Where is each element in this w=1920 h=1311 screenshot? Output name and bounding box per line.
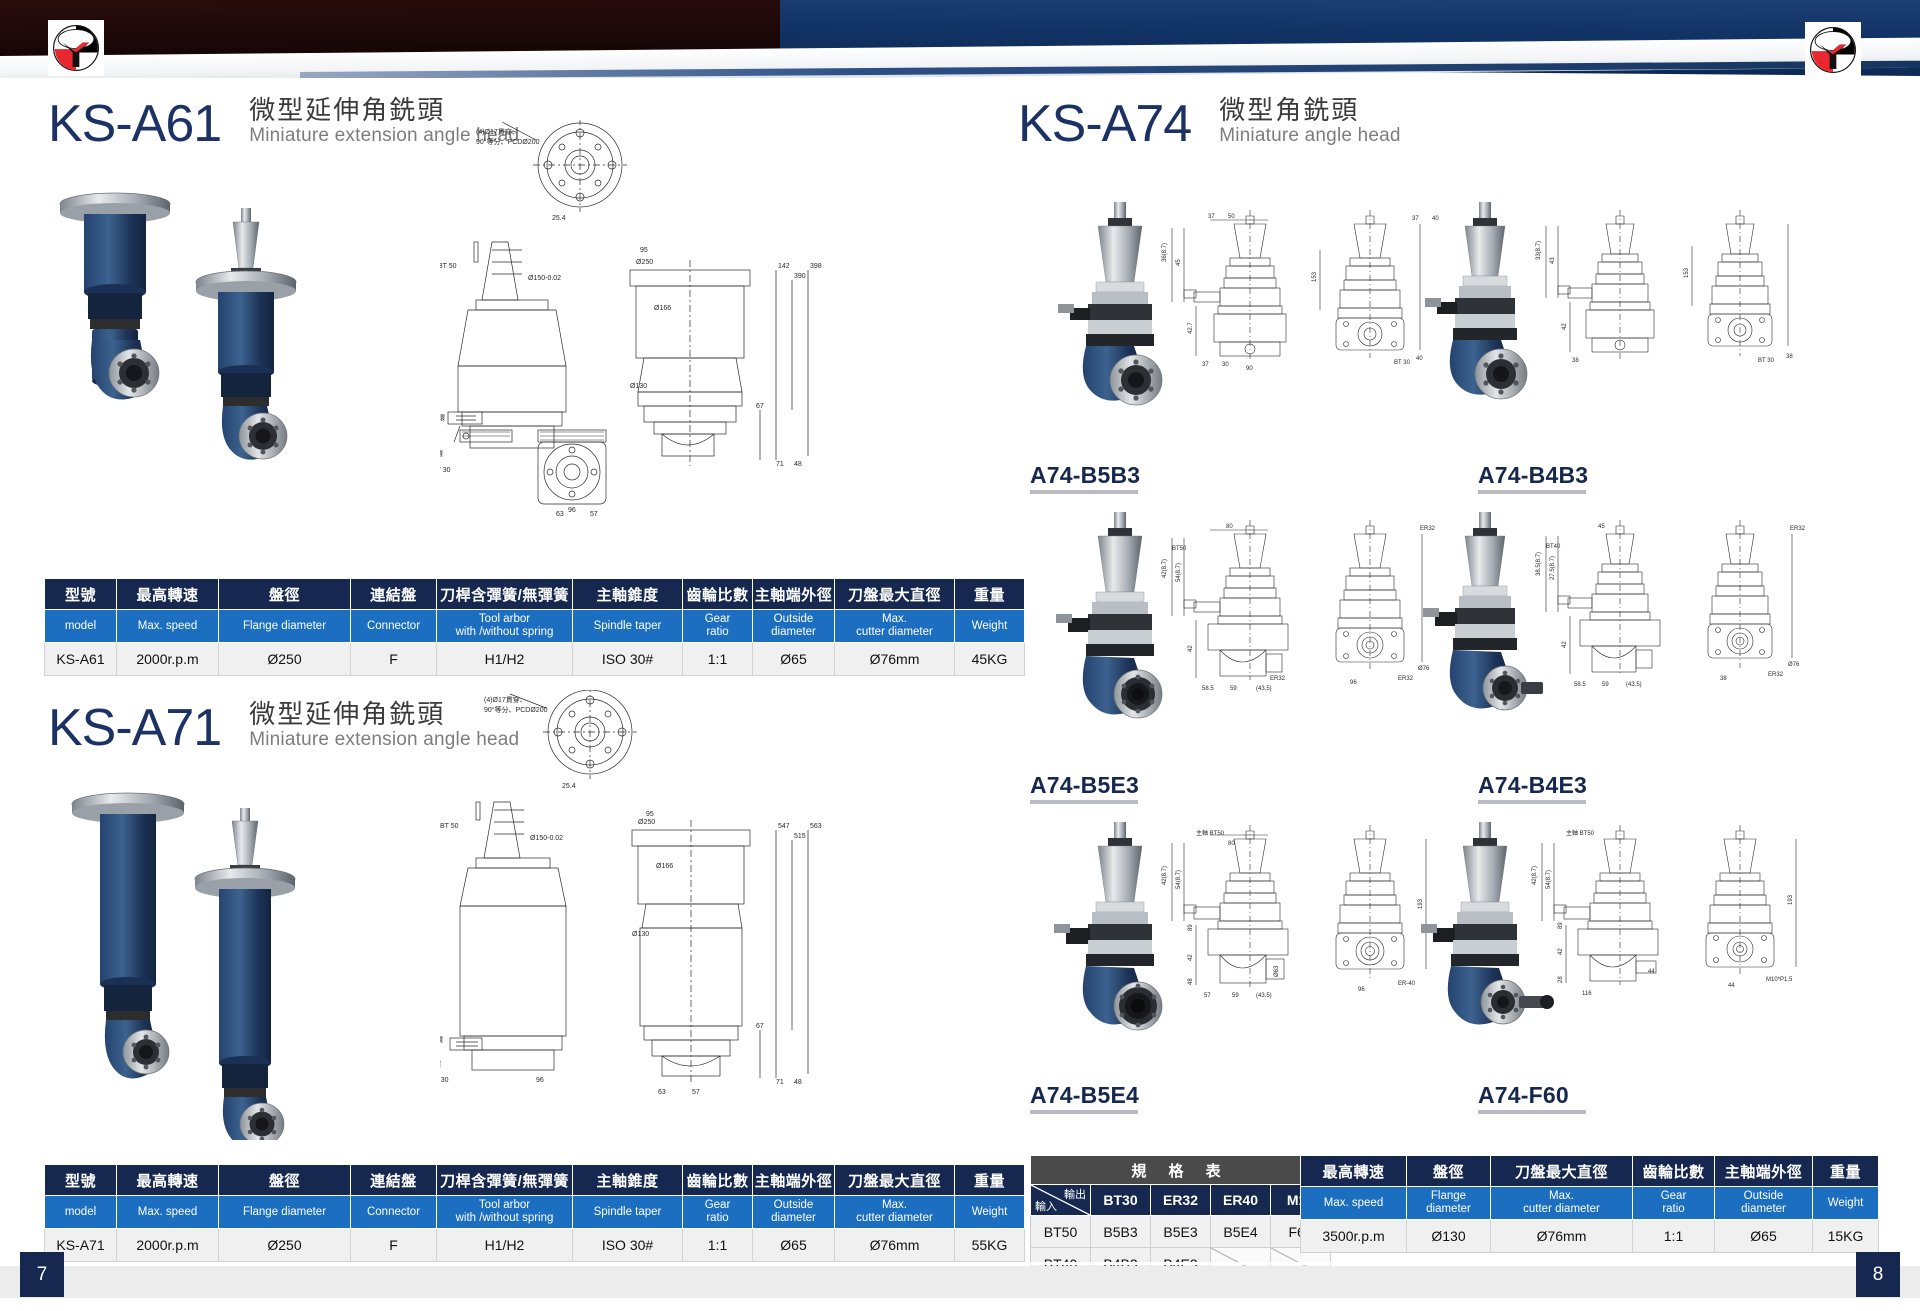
header-en-max-speed: Max. speed bbox=[117, 1196, 219, 1229]
svg-text:主軸BT 30: 主軸BT 30 bbox=[440, 465, 451, 474]
svg-text:54(8.7): 54(8.7) bbox=[1176, 563, 1182, 582]
header-cn-max-cutter-diameter: 刀盤最大直徑 bbox=[1491, 1156, 1633, 1187]
matrix-corner-input-label: 輸入 bbox=[1035, 1198, 1057, 1214]
header-en-max-cutter-diameter: Max.cutter diameter bbox=[1491, 1187, 1633, 1220]
value-flange-diameter: Ø250 bbox=[219, 1229, 351, 1262]
page-number-right: 8 bbox=[1856, 1252, 1900, 1297]
svg-text:42(8.7): 42(8.7) bbox=[1532, 866, 1538, 885]
header-cn-gear-ratio: 齒輪比數 bbox=[683, 579, 753, 610]
svg-text:主軸 BT50: 主軸 BT50 bbox=[1566, 829, 1595, 837]
value-gear-ratio: 1:1 bbox=[683, 1229, 753, 1262]
svg-text:67: 67 bbox=[756, 403, 764, 410]
header-en-gear-ratio: Gearratio bbox=[683, 610, 753, 643]
value-gear-ratio: 1:1 bbox=[1633, 1220, 1715, 1253]
spec-header-row-cn: 型號 最高轉速 盤徑 連結盤 刀桿含彈簧/無彈簧 主軸錐度 齒輪比數 主軸端外徑… bbox=[45, 1165, 1025, 1196]
header-en-weight: Weight bbox=[1813, 1187, 1879, 1220]
product-code: KS-A61 bbox=[48, 98, 221, 150]
svg-text:193: 193 bbox=[1788, 894, 1794, 905]
svg-text:116: 116 bbox=[1582, 991, 1592, 997]
svg-text:Ø63: Ø63 bbox=[1274, 965, 1280, 977]
svg-text:45: 45 bbox=[1598, 524, 1605, 530]
matrix-cell: B5E3 bbox=[1151, 1216, 1211, 1248]
svg-text:BT 50: BT 50 bbox=[440, 263, 457, 270]
company-logo-right bbox=[1805, 22, 1861, 78]
header-cn-connector: 連結盤 bbox=[351, 579, 437, 610]
variant-underline bbox=[1478, 490, 1586, 494]
header-en-max-speed: Max. speed bbox=[1301, 1187, 1407, 1220]
value-connector: F bbox=[351, 1229, 437, 1262]
svg-text:563: 563 bbox=[810, 823, 822, 830]
figure-a74-b4b3-drawings: 33(8.7) 43 42 38 153 BT 30 38 bbox=[1520, 210, 1850, 430]
variant-underline bbox=[1030, 800, 1138, 804]
svg-text:主軸BT 30: 主軸BT 30 bbox=[440, 1075, 449, 1084]
svg-text:63: 63 bbox=[556, 511, 564, 518]
variant-label-a74-f60: A74-F60 bbox=[1478, 1082, 1586, 1114]
matrix-col-er32: ER32 bbox=[1151, 1185, 1211, 1216]
svg-text:54(8.7): 54(8.7) bbox=[1546, 870, 1552, 889]
svg-text:42(8.7): 42(8.7) bbox=[1162, 866, 1168, 885]
svg-text:96: 96 bbox=[536, 1077, 544, 1084]
svg-text:M10*P1.5: M10*P1.5 bbox=[1766, 977, 1793, 983]
svg-text:27.5(8.7): 27.5(8.7) bbox=[1550, 556, 1556, 580]
svg-text:42: 42 bbox=[1188, 954, 1194, 961]
svg-text:42.7: 42.7 bbox=[1188, 322, 1194, 334]
svg-text:Ø130: Ø130 bbox=[632, 931, 649, 938]
variant-underline bbox=[1478, 800, 1586, 804]
header-en-flange-diameter: Flange diameter bbox=[219, 1196, 351, 1229]
svg-text:Ø250: Ø250 bbox=[638, 819, 655, 826]
variant-text: A74-F60 bbox=[1478, 1082, 1586, 1109]
header-cn-flange-diameter: 盤徑 bbox=[219, 579, 351, 610]
svg-text:42: 42 bbox=[1188, 645, 1194, 652]
svg-text:44: 44 bbox=[1648, 969, 1655, 975]
header-cn-spindle-taper: 主軸錐度 bbox=[573, 1165, 683, 1196]
svg-text:Ø166: Ø166 bbox=[654, 305, 671, 312]
spec-header-row-cn: 型號 最高轉速 盤徑 連結盤 刀桿含彈簧/無彈簧 主軸錐度 齒輪比數 主軸端外徑… bbox=[45, 579, 1025, 610]
variant-text: A74-B4E3 bbox=[1478, 772, 1587, 799]
svg-text:Ø166: Ø166 bbox=[656, 863, 673, 870]
spec-table-ks-a74: 最高轉速 盤徑 刀盤最大直徑 齒輪比數 主軸端外徑 重量 Max. speed … bbox=[1300, 1155, 1879, 1253]
value-tool-arbor: H1/H2 bbox=[437, 643, 573, 676]
matrix-title: 規 格 表 bbox=[1031, 1156, 1331, 1185]
svg-text:(43.5): (43.5) bbox=[1256, 993, 1272, 999]
header-en-gear-ratio: Gearratio bbox=[683, 1196, 753, 1229]
svg-text:(4)Ø17貫穿、: (4)Ø17貫穿、 bbox=[484, 695, 527, 704]
footer-band bbox=[0, 1266, 1920, 1298]
value-model: KS-A61 bbox=[45, 643, 117, 676]
header-en-model: model bbox=[45, 1196, 117, 1229]
svg-text:主軸 BT50: 主軸 BT50 bbox=[1196, 829, 1225, 837]
svg-text:54(8.7): 54(8.7) bbox=[1176, 870, 1182, 889]
spec-value-row: 3500r.p.m Ø130 Ø76mm 1:1 Ø65 15KG bbox=[1301, 1220, 1879, 1253]
variant-underline bbox=[1030, 490, 1138, 494]
page-header-banner bbox=[0, 0, 1920, 78]
header-cn-outside-diameter: 主軸端外徑 bbox=[1715, 1156, 1813, 1187]
header-cn-gear-ratio: 齒輪比數 bbox=[1633, 1156, 1715, 1187]
svg-text:28: 28 bbox=[1558, 976, 1564, 983]
svg-text:Ø150-0.02: Ø150-0.02 bbox=[530, 835, 563, 842]
header-en-tool-arbor: Tool arborwith /without spring bbox=[437, 1196, 573, 1229]
product-code: KS-A71 bbox=[48, 702, 221, 754]
spec-header-row-en: Max. speed Flangediameter Max.cutter dia… bbox=[1301, 1187, 1879, 1220]
svg-text:48: 48 bbox=[1188, 978, 1194, 985]
matrix-header-row: 輸入 輸出 BT30 ER32 ER40 M10 bbox=[1031, 1185, 1331, 1216]
svg-text:90: 90 bbox=[1246, 366, 1253, 372]
svg-text:48: 48 bbox=[794, 461, 802, 468]
value-max-cutter-diameter: Ø76mm bbox=[835, 643, 955, 676]
header-en-flange-diameter: Flangediameter bbox=[1407, 1187, 1491, 1220]
company-logo-left bbox=[48, 20, 104, 76]
header-cn-tool-arbor: 刀桿含彈簧/無彈簧 bbox=[437, 1165, 573, 1196]
spec-header-row-cn: 最高轉速 盤徑 刀盤最大直徑 齒輪比數 主軸端外徑 重量 bbox=[1301, 1156, 1879, 1187]
header-en-max-cutter-diameter: Max.cutter diameter bbox=[835, 610, 955, 643]
figure-a74-f60-drawings: 主軸 BT50 42(8.7) 54(8.7) 42 89 28 116 44 … bbox=[1520, 825, 1850, 1040]
value-weight: 45KG bbox=[955, 643, 1025, 676]
value-gear-ratio: 1:1 bbox=[683, 643, 753, 676]
value-spindle-taper: ISO 30# bbox=[573, 643, 683, 676]
svg-text:95: 95 bbox=[640, 247, 648, 254]
svg-text:38: 38 bbox=[1720, 676, 1727, 682]
spec-table-ks-a71: 型號 最高轉速 盤徑 連結盤 刀桿含彈簧/無彈簧 主軸錐度 齒輪比數 主軸端外徑… bbox=[44, 1164, 1025, 1262]
figure-ks-a61-photos bbox=[40, 190, 460, 500]
svg-text:515: 515 bbox=[794, 833, 806, 840]
svg-text:BT 30: BT 30 bbox=[1758, 358, 1775, 364]
figure-a74-b4e3-drawings: 45 38.5(8.7) 27.5(8.7) 42 58.559 (43.5) … bbox=[1520, 520, 1850, 740]
value-outside-diameter: Ø65 bbox=[1715, 1220, 1813, 1253]
matrix-title-row: 規 格 表 bbox=[1031, 1156, 1331, 1185]
value-outside-diameter: Ø65 bbox=[753, 643, 835, 676]
svg-text:57: 57 bbox=[692, 1089, 700, 1096]
variant-text: A74-B4B3 bbox=[1478, 462, 1588, 489]
spec-header-row-en: model Max. speed Flange diameter Connect… bbox=[45, 1196, 1025, 1229]
header-cn-outside-diameter: 主軸端外徑 bbox=[753, 579, 835, 610]
header-en-spindle-taper: Spindle taper bbox=[573, 610, 683, 643]
value-max-speed: 3500r.p.m bbox=[1301, 1220, 1407, 1253]
svg-text:刻度環: 刻度環 bbox=[440, 449, 443, 458]
header-en-tool-arbor: Tool arborwith /without spring bbox=[437, 610, 573, 643]
svg-text:42: 42 bbox=[1562, 323, 1568, 330]
svg-text:42: 42 bbox=[1562, 641, 1568, 648]
svg-text:96: 96 bbox=[568, 507, 576, 514]
variant-underline bbox=[1030, 1110, 1138, 1114]
svg-text:刻度環: 刻度環 bbox=[440, 1059, 441, 1068]
svg-text:390: 390 bbox=[794, 273, 806, 280]
product-name-cn: 微型角銑頭 bbox=[1219, 96, 1400, 125]
svg-text:Ø250: Ø250 bbox=[636, 259, 653, 266]
svg-text:38.5(8.7): 38.5(8.7) bbox=[1536, 552, 1542, 576]
header-cn-weight: 重量 bbox=[955, 1165, 1025, 1196]
header-cn-max-cutter-diameter: 刀盤最大直徑 bbox=[835, 579, 955, 610]
figure-ks-a71-photos bbox=[50, 790, 450, 1140]
footer-top-line bbox=[0, 1262, 1920, 1265]
variant-label-a74-b4e3: A74-B4E3 bbox=[1478, 772, 1587, 804]
svg-text:90°等分、PCDØ200: 90°等分、PCDØ200 bbox=[476, 137, 540, 146]
spec-value-row: KS-A71 2000r.p.m Ø250 F H1/H2 ISO 30# 1:… bbox=[45, 1229, 1025, 1262]
header-en-max-speed: Max. speed bbox=[117, 610, 219, 643]
variant-text: A74-B5B3 bbox=[1030, 462, 1140, 489]
value-flange-diameter: Ø130 bbox=[1407, 1220, 1491, 1253]
header-cn-max-cutter-diameter: 刀盤最大直徑 bbox=[835, 1165, 955, 1196]
svg-text:59: 59 bbox=[1602, 682, 1609, 688]
value-connector: F bbox=[351, 643, 437, 676]
matrix-col-er40: ER40 bbox=[1211, 1185, 1271, 1216]
page-number-left: 7 bbox=[20, 1252, 64, 1297]
value-weight: 55KG bbox=[955, 1229, 1025, 1262]
value-max-cutter-diameter: Ø76mm bbox=[835, 1229, 955, 1262]
header-en-gear-ratio: Gearratio bbox=[1633, 1187, 1715, 1220]
matrix-corner-cell: 輸入 輸出 bbox=[1031, 1185, 1091, 1216]
svg-text:25.4: 25.4 bbox=[552, 215, 566, 222]
svg-text:Ø150-0.02: Ø150-0.02 bbox=[528, 275, 561, 282]
svg-text:50: 50 bbox=[1228, 214, 1235, 220]
svg-text:142: 142 bbox=[778, 263, 790, 270]
svg-text:Ø130: Ø130 bbox=[630, 383, 647, 390]
header-cn-connector: 連結盤 bbox=[351, 1165, 437, 1196]
svg-text:(4)Ø17貫穿、: (4)Ø17貫穿、 bbox=[476, 127, 519, 136]
svg-text:42(8.7): 42(8.7) bbox=[1162, 559, 1168, 578]
svg-text:(43.5): (43.5) bbox=[1626, 682, 1642, 688]
svg-text:刻度環: 刻度環 bbox=[440, 413, 445, 422]
header-cn-model: 型號 bbox=[45, 579, 117, 610]
svg-text:BT40: BT40 bbox=[1546, 544, 1561, 550]
matrix-row-bt50: BT50 B5B3 B5E3 B5E4 F60 bbox=[1031, 1216, 1331, 1248]
svg-text:59: 59 bbox=[1232, 993, 1239, 999]
svg-text:30: 30 bbox=[1222, 362, 1229, 368]
svg-text:398: 398 bbox=[810, 263, 822, 270]
svg-text:43: 43 bbox=[1550, 257, 1556, 264]
header-en-flange-diameter: Flange diameter bbox=[219, 610, 351, 643]
value-spindle-taper: ISO 30# bbox=[573, 1229, 683, 1262]
svg-text:153: 153 bbox=[1312, 271, 1318, 282]
svg-text:25.4: 25.4 bbox=[562, 783, 576, 790]
header-cn-spindle-taper: 主軸錐度 bbox=[573, 579, 683, 610]
value-flange-diameter: Ø250 bbox=[219, 643, 351, 676]
header-cn-max-speed: 最高轉速 bbox=[117, 579, 219, 610]
svg-text:547: 547 bbox=[778, 823, 790, 830]
svg-text:BT50: BT50 bbox=[1172, 546, 1187, 552]
header-en-max-cutter-diameter: Max.cutter diameter bbox=[835, 1196, 955, 1229]
svg-text:ER32: ER32 bbox=[1768, 672, 1784, 678]
svg-text:89: 89 bbox=[1558, 922, 1564, 929]
header-cn-weight: 重量 bbox=[955, 579, 1025, 610]
value-max-cutter-diameter: Ø76mm bbox=[1491, 1220, 1633, 1253]
svg-text:71: 71 bbox=[776, 461, 784, 468]
svg-text:96: 96 bbox=[1358, 987, 1365, 993]
svg-text:80: 80 bbox=[1226, 524, 1233, 530]
svg-text:96: 96 bbox=[1350, 680, 1357, 686]
value-max-speed: 2000r.p.m bbox=[117, 643, 219, 676]
header-cn-max-speed: 最高轉速 bbox=[1301, 1156, 1407, 1187]
svg-text:(43.5): (43.5) bbox=[1256, 686, 1272, 692]
header-en-weight: Weight bbox=[955, 610, 1025, 643]
header-cn-weight: 重量 bbox=[1813, 1156, 1879, 1187]
matrix-row-label: BT50 bbox=[1031, 1216, 1091, 1248]
svg-text:BT 50: BT 50 bbox=[440, 823, 459, 830]
svg-text:37: 37 bbox=[1202, 362, 1209, 368]
svg-text:58.5: 58.5 bbox=[1574, 682, 1586, 688]
figure-ks-a61-drawings: (4)Ø17貫穿、 90°等分、PCDØ200 25.4 BT 50 Ø150-… bbox=[440, 120, 900, 550]
svg-text:59: 59 bbox=[1230, 686, 1237, 692]
variant-label-a74-b5e4: A74-B5E4 bbox=[1030, 1082, 1139, 1114]
product-name-en: Miniature angle head bbox=[1219, 125, 1400, 146]
svg-text:38: 38 bbox=[1786, 354, 1793, 360]
header-cn-flange-diameter: 盤徑 bbox=[219, 1165, 351, 1196]
matrix-corner-output-label: 輸出 bbox=[1064, 1186, 1086, 1202]
svg-text:90°等分、PCDØ200: 90°等分、PCDØ200 bbox=[484, 705, 548, 714]
svg-text:153: 153 bbox=[1684, 267, 1690, 278]
svg-text:71: 71 bbox=[776, 1079, 784, 1086]
variant-text: A74-B5E3 bbox=[1030, 772, 1139, 799]
svg-text:ER32: ER32 bbox=[1790, 526, 1806, 532]
svg-text:42: 42 bbox=[1558, 948, 1564, 955]
svg-text:58.5: 58.5 bbox=[1202, 686, 1214, 692]
figure-ks-a71-drawings: (4)Ø17貫穿、 90°等分、PCDØ200 25.4 BT 50 Ø150-… bbox=[440, 690, 900, 1120]
svg-text:38: 38 bbox=[1572, 358, 1579, 364]
spec-header-row-en: model Max. speed Flange diameter Connect… bbox=[45, 610, 1025, 643]
variant-text: A74-B5E4 bbox=[1030, 1082, 1139, 1109]
value-tool-arbor: H1/H2 bbox=[437, 1229, 573, 1262]
value-outside-diameter: Ø65 bbox=[753, 1229, 835, 1262]
variant-label-a74-b5e3: A74-B5E3 bbox=[1030, 772, 1139, 804]
svg-text:33(8.7): 33(8.7) bbox=[1536, 241, 1542, 260]
header-cn-model: 型號 bbox=[45, 1165, 117, 1196]
variant-underline bbox=[1478, 1110, 1586, 1114]
svg-text:刻度環: 刻度環 bbox=[440, 1035, 443, 1044]
header-en-outside-diameter: Outsidediameter bbox=[753, 610, 835, 643]
variant-label-a74-b5b3: A74-B5B3 bbox=[1030, 462, 1140, 494]
svg-text:95: 95 bbox=[646, 811, 654, 818]
svg-text:57: 57 bbox=[1204, 993, 1211, 999]
product-title-ks-a74: KS-A74 微型角銑頭 Miniature angle head bbox=[1018, 96, 1401, 150]
svg-text:80: 80 bbox=[1228, 841, 1235, 847]
header-cn-gear-ratio: 齒輪比數 bbox=[683, 1165, 753, 1196]
svg-text:ER32: ER32 bbox=[1270, 676, 1286, 682]
svg-text:48: 48 bbox=[794, 1079, 802, 1086]
header-cn-max-speed: 最高轉速 bbox=[117, 1165, 219, 1196]
spec-value-row: KS-A61 2000r.p.m Ø250 F H1/H2 ISO 30# 1:… bbox=[45, 643, 1025, 676]
header-en-connector: Connector bbox=[351, 1196, 437, 1229]
svg-text:37: 37 bbox=[1208, 214, 1215, 220]
value-weight: 15KG bbox=[1813, 1220, 1879, 1253]
matrix-cell: B5E4 bbox=[1211, 1216, 1271, 1248]
header-cn-tool-arbor: 刀桿含彈簧/無彈簧 bbox=[437, 579, 573, 610]
svg-text:57: 57 bbox=[590, 511, 598, 518]
header-en-outside-diameter: Outsidediameter bbox=[753, 1196, 835, 1229]
product-code: KS-A74 bbox=[1018, 98, 1191, 150]
svg-text:44: 44 bbox=[1728, 983, 1735, 989]
svg-text:63: 63 bbox=[658, 1089, 666, 1096]
header-en-weight: Weight bbox=[955, 1196, 1025, 1229]
spec-table-ks-a61: 型號 最高轉速 盤徑 連結盤 刀桿含彈簧/無彈簧 主軸錐度 齒輪比數 主軸端外徑… bbox=[44, 578, 1025, 676]
variant-label-a74-b4b3: A74-B4B3 bbox=[1478, 462, 1588, 494]
svg-text:Ø76: Ø76 bbox=[1788, 662, 1800, 668]
svg-text:89: 89 bbox=[1188, 924, 1194, 931]
value-max-speed: 2000r.p.m bbox=[117, 1229, 219, 1262]
svg-text:67: 67 bbox=[756, 1023, 764, 1030]
matrix-cell: B5B3 bbox=[1091, 1216, 1151, 1248]
svg-text:36(8.7): 36(8.7) bbox=[1162, 243, 1168, 262]
header-en-connector: Connector bbox=[351, 610, 437, 643]
header-en-spindle-taper: Spindle taper bbox=[573, 1196, 683, 1229]
header-cn-outside-diameter: 主軸端外徑 bbox=[753, 1165, 835, 1196]
matrix-col-bt30: BT30 bbox=[1091, 1185, 1151, 1216]
header-cn-flange-diameter: 盤徑 bbox=[1407, 1156, 1491, 1187]
svg-text:45: 45 bbox=[1176, 259, 1182, 266]
header-en-model: model bbox=[45, 610, 117, 643]
header-en-outside-diameter: Outsidediameter bbox=[1715, 1187, 1813, 1220]
